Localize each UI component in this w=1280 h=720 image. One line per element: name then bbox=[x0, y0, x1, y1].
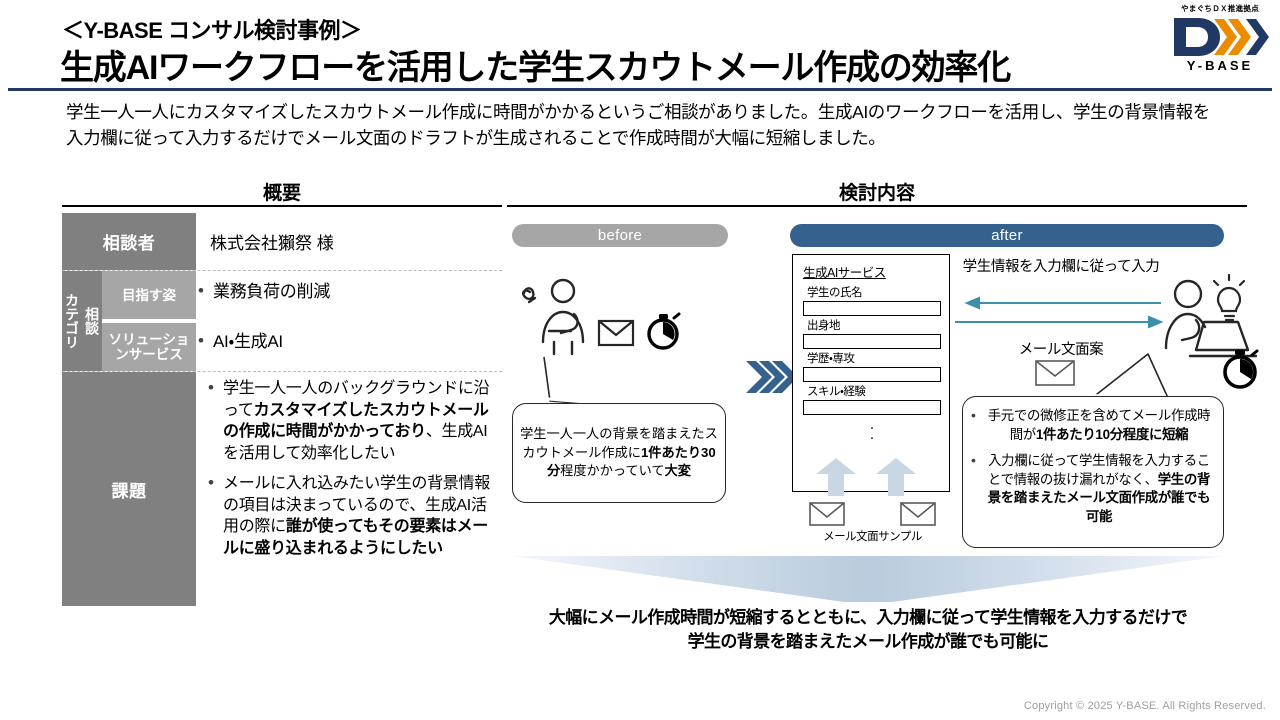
row-value-solution: AI・生成AI bbox=[196, 330, 283, 354]
thinking-person-icon bbox=[523, 280, 583, 354]
issue-items: 学生一人一人のバックグラウンドに沿ってカスタマイズしたスカウトメールの作成に時間… bbox=[206, 378, 498, 559]
mail-draft-icon bbox=[1035, 360, 1075, 386]
form-field-input[interactable] bbox=[803, 400, 941, 415]
person-at-laptop-icon bbox=[1166, 281, 1256, 356]
y-base-logo: やまぐちＤＸ推進拠点 Y-BASE bbox=[1168, 4, 1272, 82]
form-field-label: スキル・経験 bbox=[807, 383, 941, 399]
form-field-label: 学歴・専攻 bbox=[807, 350, 941, 366]
before-pill-label: before bbox=[512, 224, 728, 247]
bidirectional-flow-arrows bbox=[953, 296, 1173, 332]
mail-sample-caption: メール文面サンプル bbox=[800, 528, 945, 544]
section-title-overview: 概要 bbox=[62, 178, 502, 205]
table-row-category: カテゴリ 相談 目指す姿 ソリューションサービス 業務負荷の削減 AI・生成AI bbox=[62, 271, 502, 371]
mail-icon bbox=[809, 502, 845, 526]
row-label-consultation: 相談 bbox=[82, 271, 102, 371]
mail-icon bbox=[599, 321, 633, 345]
category-values: 業務負荷の削減 AI・生成AI bbox=[196, 271, 502, 371]
section-title-content: 検討内容 bbox=[507, 178, 1247, 205]
row-value-goal: 業務負荷の削減 bbox=[196, 280, 330, 304]
content-divider bbox=[507, 205, 1247, 207]
category-sublabels: 目指す姿 ソリューションサービス bbox=[102, 271, 196, 371]
issue-item: メールに入れ込みたい学生の背景情報の項目は決まっているので、生成AI活用の際に誰… bbox=[206, 473, 498, 559]
mail-icon bbox=[900, 502, 936, 526]
before-speech-bubble: 学生一人一人の背景を踏まえたスカウトメール作成に1件あたり30分程度かかっていて… bbox=[512, 403, 726, 503]
after-result-item: 入力欄に従って学生情報を入力することで情報の抜け漏れがなく、学生の背景を踏まえた… bbox=[969, 452, 1213, 526]
mail-sample-group: メール文面サンプル bbox=[800, 502, 945, 544]
category-vertical-labels: カテゴリ 相談 bbox=[62, 271, 102, 371]
form-field-input[interactable] bbox=[803, 367, 941, 382]
logo-wordmark: Y-BASE bbox=[1168, 59, 1272, 73]
form-field-input[interactable] bbox=[803, 334, 941, 349]
stopwatch-icon bbox=[649, 314, 679, 348]
arrow-left-icon bbox=[967, 298, 1161, 308]
before-bubble-tail bbox=[540, 355, 606, 407]
form-field-label: 学生の氏名 bbox=[807, 284, 941, 300]
table-row-issues: 課題 学生一人一人のバックグラウンドに沿ってカスタマイズしたスカウトメールの作成… bbox=[62, 372, 502, 606]
intro-paragraph: 学生一人一人にカスタマイズしたスカウトメール作成に時間がかかるというご相談があり… bbox=[66, 99, 1224, 151]
form-field-input[interactable] bbox=[803, 301, 941, 316]
ai-service-form-card: 生成AIサービス 学生の氏名出身地学歴・専攻スキル・経験 ·· bbox=[792, 254, 950, 492]
sample-feed-arrows bbox=[806, 458, 936, 496]
lightbulb-icon bbox=[1214, 275, 1244, 320]
conclusion-line-1: 大幅にメール作成時間が短縮するとともに、入力欄に従って学生情報を入力するだけで bbox=[512, 606, 1224, 630]
after-result-items: 手元での微修正を含めてメール作成時間が1件あたり10分程度に短縮入力欄に従って学… bbox=[969, 407, 1213, 526]
issue-item: 学生一人一人のバックグラウンドに沿ってカスタマイズしたスカウトメールの作成に時間… bbox=[206, 378, 498, 464]
before-bubble-text: 学生一人一人の背景を踏まえたスカウトメール作成に1件あたり30分程度かかっていて… bbox=[519, 425, 719, 481]
after-results-bubble: 手元での微修正を含めてメール作成時間が1件あたり10分程度に短縮入力欄に従って学… bbox=[962, 396, 1224, 548]
form-field-list: 学生の氏名出身地学歴・専攻スキル・経験 bbox=[803, 284, 941, 415]
dx-logo-icon bbox=[1168, 15, 1272, 59]
issue-bullet-list: 学生一人一人のバックグラウンドに沿ってカスタマイズしたスカウトメールの作成に時間… bbox=[196, 372, 502, 606]
arrow-up-icon bbox=[876, 458, 916, 496]
slide-canvas: ＜Y-BASE コンサル検討事例＞ 生成AIワークフローを活用した学生スカウトメ… bbox=[0, 0, 1280, 720]
before-illustration bbox=[516, 276, 726, 366]
conclusion-line-2: 学生の背景を踏まえたメール作成が誰でも可能に bbox=[512, 630, 1224, 654]
table-row-consultant: 相談者 株式会社獺祭 様 bbox=[62, 213, 502, 270]
conclusion-text: 大幅にメール作成時間が短縮するとともに、入力欄に従って学生情報を入力するだけで … bbox=[512, 606, 1224, 654]
page-title: 生成AIワークフローを活用した学生スカウトメール作成の効率化 bbox=[60, 40, 1010, 89]
row-label-category: カテゴリ bbox=[62, 271, 82, 371]
arrow-right-icon bbox=[955, 317, 1161, 327]
copyright-footer: Copyright © 2025 Y-BASE. All Rights Rese… bbox=[1024, 700, 1266, 712]
arrow-label-input: 学生情報を入力欄に従って入力 bbox=[962, 258, 1160, 277]
row-label-issue: 課題 bbox=[62, 372, 196, 606]
arrow-up-icon bbox=[816, 458, 856, 496]
after-bubble-tail bbox=[1090, 352, 1200, 400]
form-field-label: 出身地 bbox=[807, 317, 941, 333]
after-result-item: 手元での微修正を含めてメール作成時間が1件あたり10分程度に短縮 bbox=[969, 407, 1213, 444]
logo-caption: やまぐちＤＸ推進拠点 bbox=[1168, 4, 1272, 14]
row-label-solution: ソリューションサービス bbox=[102, 323, 196, 371]
header-divider bbox=[8, 88, 1272, 91]
form-title: 生成AIサービス bbox=[803, 262, 941, 281]
after-pill-label: after bbox=[790, 224, 1224, 247]
mail-sample-icons bbox=[800, 502, 945, 526]
overview-table: 相談者 株式会社獺祭 様 カテゴリ 相談 目指す姿 ソリューションサービス 業務… bbox=[62, 213, 502, 606]
row-label-consultant: 相談者 bbox=[62, 213, 196, 270]
row-label-goal: 目指す姿 bbox=[102, 271, 196, 319]
form-continuation-dots: ·· bbox=[803, 423, 941, 443]
goal-value-row: 業務負荷の削減 bbox=[196, 271, 502, 321]
overview-divider bbox=[62, 205, 502, 207]
row-value-consultant: 株式会社獺祭 様 bbox=[196, 213, 334, 270]
summary-down-arrow-icon bbox=[512, 556, 1224, 604]
solution-value-row: AI・生成AI bbox=[196, 321, 502, 371]
